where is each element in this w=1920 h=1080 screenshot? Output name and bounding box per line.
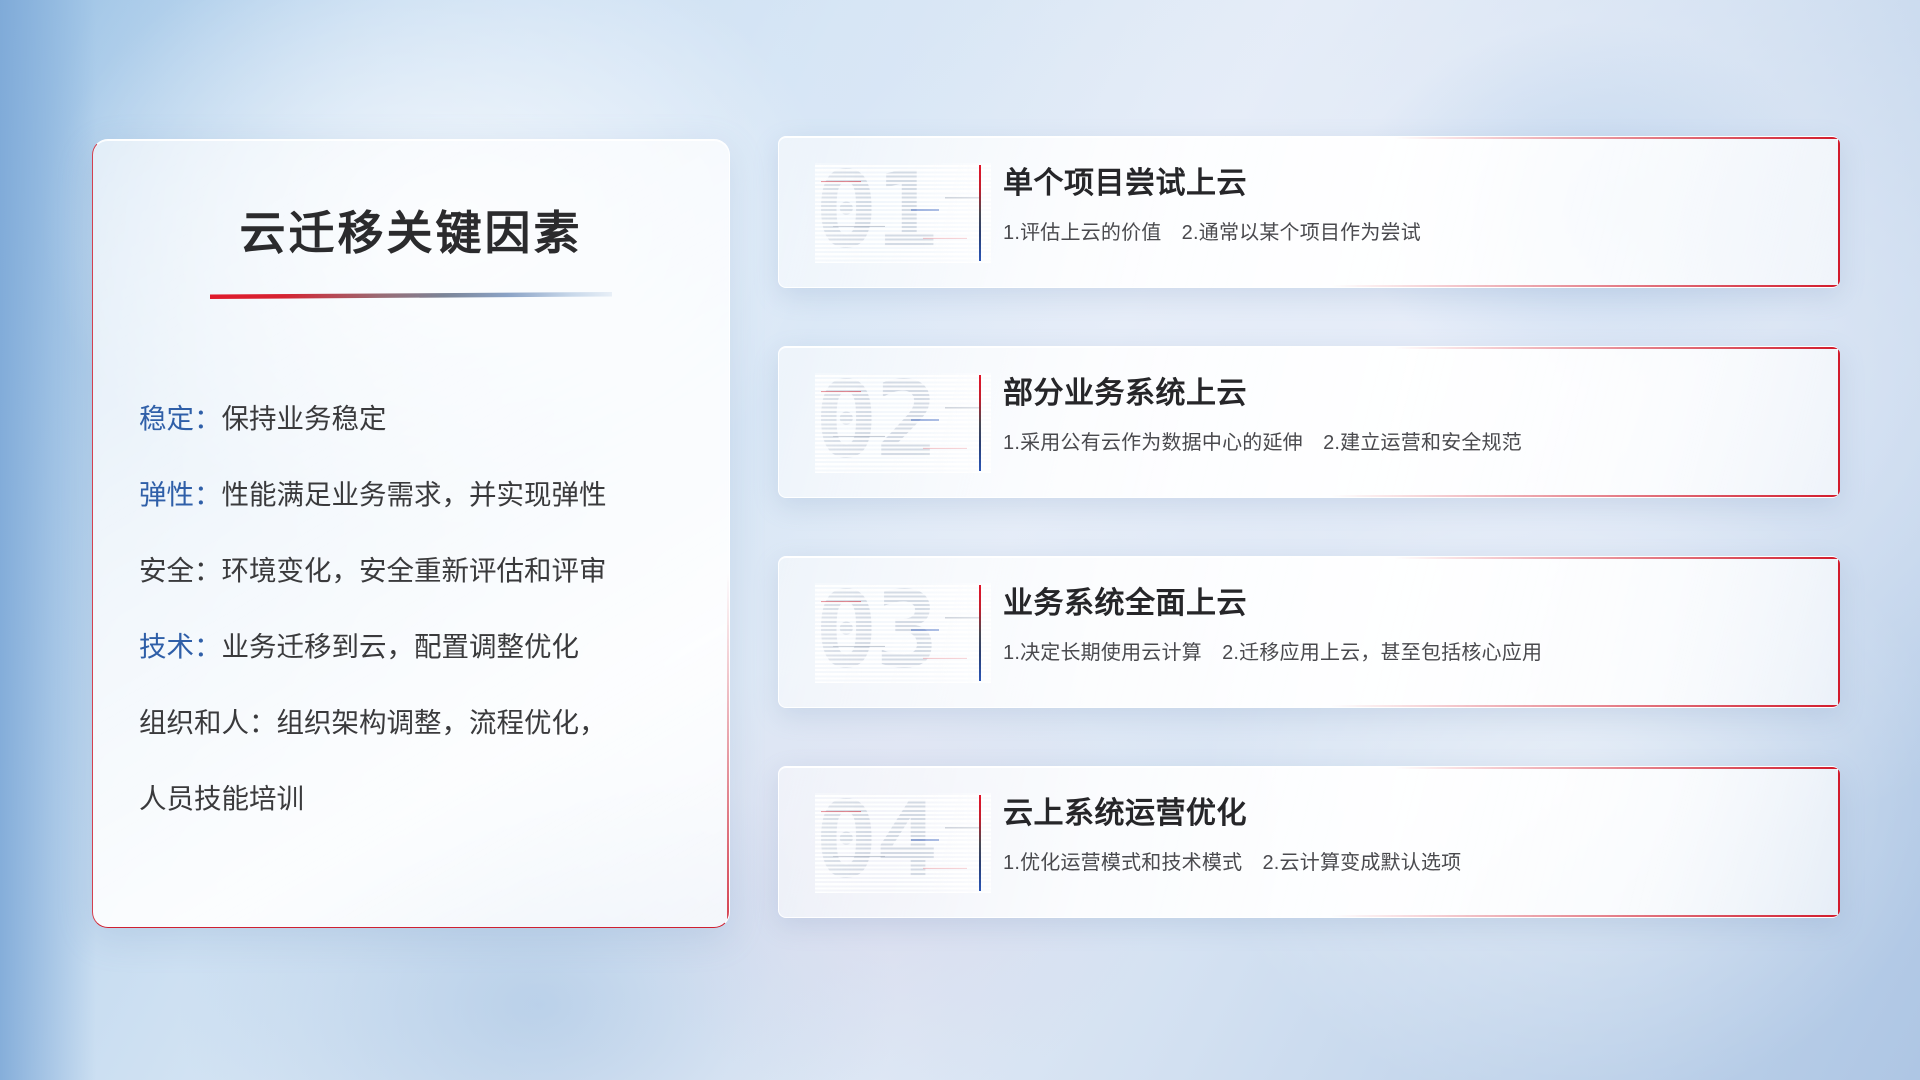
key-factor-label: 安全： xyxy=(139,555,222,586)
key-factor-label: 技术： xyxy=(139,631,222,662)
stage-card[interactable]: 04云上系统运营优化1.优化运营模式和技术模式 2.云计算变成默认选项 xyxy=(778,766,1840,918)
card-title: 单个项目尝试上云 xyxy=(1003,161,1800,207)
glitch-tick xyxy=(923,657,967,659)
card-bottom-accent xyxy=(1331,705,1840,707)
key-factor-value: 性能满足业务需求，并实现弹性 xyxy=(222,479,607,510)
stage-number-text: 03 xyxy=(815,583,936,683)
glitch-tick xyxy=(833,645,885,647)
glitch-tick xyxy=(821,391,861,393)
key-factor-line: 弹性：性能满足业务需求，并实现弹性 xyxy=(139,457,695,533)
glitch-tick xyxy=(923,867,967,869)
card-bottom-accent xyxy=(1331,495,1840,497)
stage-number-text: 04 xyxy=(815,793,936,893)
key-factors-panel: 云迁移关键因素 稳定：保持业务稳定弹性：性能满足业务需求，并实现弹性安全：环境变… xyxy=(92,139,730,928)
glitch-tick xyxy=(945,617,979,619)
key-factor-line: 稳定：保持业务稳定 xyxy=(139,381,695,457)
key-factor-value: 业务迁移到云，配置调整优化 xyxy=(222,631,580,662)
stage-card[interactable]: 02部分业务系统上云1.采用公有云作为数据中心的延伸 2.建立运营和安全规范 xyxy=(778,346,1840,498)
stage-number-glitch: 04 xyxy=(815,793,991,893)
key-factor-line: 人员技能培训 xyxy=(139,761,695,837)
card-vertical-accent-bar xyxy=(979,165,981,261)
card-title: 云上系统运营优化 xyxy=(1003,791,1800,837)
glitch-tick xyxy=(945,197,979,199)
card-text-block: 部分业务系统上云1.采用公有云作为数据中心的延伸 2.建立运营和安全规范 xyxy=(1003,371,1800,458)
key-factor-value: 保持业务稳定 xyxy=(222,403,387,434)
stage-number-text: 01 xyxy=(815,163,936,263)
glitch-tick xyxy=(821,601,861,603)
key-factor-value: 环境变化，安全重新评估和评审 xyxy=(222,555,607,586)
key-factor-value: 组织架构调整，流程优化， xyxy=(277,707,607,738)
glitch-tick xyxy=(923,447,967,449)
stage-number-glitch: 03 xyxy=(815,583,991,683)
glitch-tick xyxy=(821,181,861,183)
glitch-tick xyxy=(911,209,939,211)
stage-number-text: 02 xyxy=(815,373,936,473)
card-title: 部分业务系统上云 xyxy=(1003,371,1800,417)
key-factors-list: 稳定：保持业务稳定弹性：性能满足业务需求，并实现弹性安全：环境变化，安全重新评估… xyxy=(93,381,729,837)
key-factor-line: 安全：环境变化，安全重新评估和评审 xyxy=(139,533,695,609)
key-factor-line: 组织和人：组织架构调整，流程优化， xyxy=(139,685,695,761)
glitch-tick xyxy=(833,435,885,437)
card-vertical-accent-bar xyxy=(979,585,981,681)
glitch-tick xyxy=(833,855,885,857)
key-factor-value: 人员技能培训 xyxy=(139,783,304,814)
glitch-tick xyxy=(945,407,979,409)
card-bottom-accent xyxy=(1331,285,1840,287)
card-text-block: 业务系统全面上云1.决定长期使用云计算 2.迁移应用上云，甚至包括核心应用 xyxy=(1003,581,1800,668)
card-text-block: 单个项目尝试上云1.评估上云的价值 2.通常以某个项目作为尝试 xyxy=(1003,161,1800,248)
card-description: 1.决定长期使用云计算 2.迁移应用上云，甚至包括核心应用 xyxy=(1003,638,1800,668)
stage-card[interactable]: 01单个项目尝试上云1.评估上云的价值 2.通常以某个项目作为尝试 xyxy=(778,136,1840,288)
glitch-tick xyxy=(833,225,885,227)
key-factor-label: 弹性： xyxy=(139,479,222,510)
card-description: 1.采用公有云作为数据中心的延伸 2.建立运营和安全规范 xyxy=(1003,428,1800,458)
glitch-tick xyxy=(911,629,939,631)
title-underline-gradient xyxy=(210,292,612,299)
stage-card[interactable]: 03业务系统全面上云1.决定长期使用云计算 2.迁移应用上云，甚至包括核心应用 xyxy=(778,556,1840,708)
card-vertical-accent-bar xyxy=(979,375,981,471)
card-description: 1.优化运营模式和技术模式 2.云计算变成默认选项 xyxy=(1003,848,1800,878)
key-factor-label: 稳定： xyxy=(139,403,222,434)
card-vertical-accent-bar xyxy=(979,795,981,891)
card-description: 1.评估上云的价值 2.通常以某个项目作为尝试 xyxy=(1003,218,1800,248)
glitch-tick xyxy=(911,419,939,421)
card-text-block: 云上系统运营优化1.优化运营模式和技术模式 2.云计算变成默认选项 xyxy=(1003,791,1800,878)
cloud-migration-stage-cards: 01单个项目尝试上云1.评估上云的价值 2.通常以某个项目作为尝试02部分业务系… xyxy=(778,136,1840,976)
glitch-tick xyxy=(911,839,939,841)
stage-number-glitch: 01 xyxy=(815,163,991,263)
key-factor-line: 技术：业务迁移到云，配置调整优化 xyxy=(139,609,695,685)
background-left-edge-shade xyxy=(0,0,96,1080)
card-title: 业务系统全面上云 xyxy=(1003,581,1800,627)
panel-title: 云迁移关键因素 xyxy=(93,197,729,263)
stage-number-glitch: 02 xyxy=(815,373,991,473)
glitch-tick xyxy=(821,811,861,813)
glitch-tick xyxy=(923,237,967,239)
key-factor-label: 组织和人： xyxy=(139,707,277,738)
glitch-tick xyxy=(945,827,979,829)
card-bottom-accent xyxy=(1331,915,1840,917)
